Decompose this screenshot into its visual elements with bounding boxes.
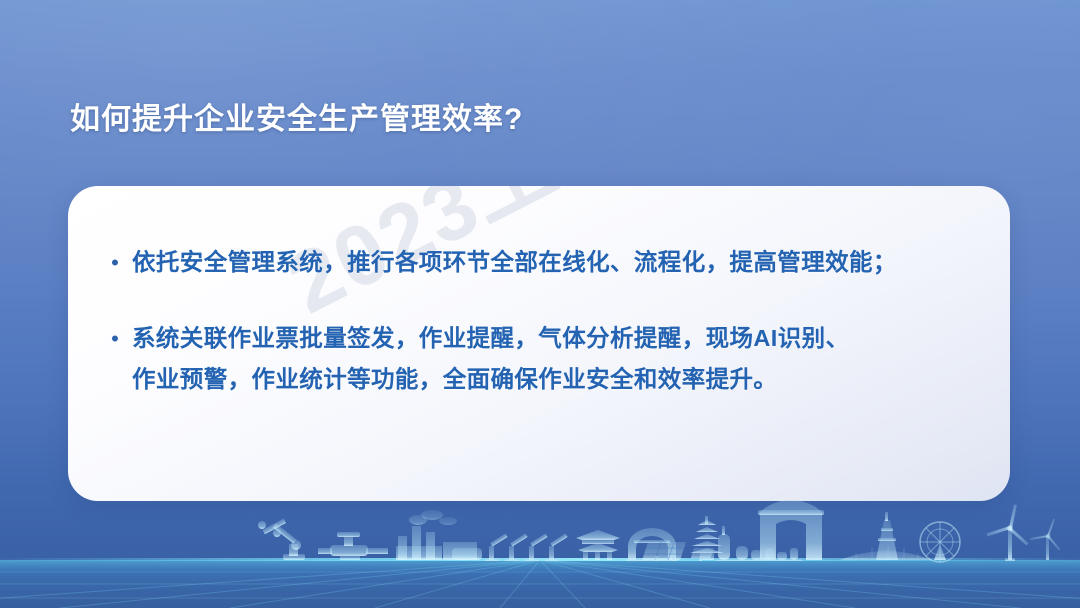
skyline-silhouettes: [258, 500, 1060, 562]
page-title: 如何提升企业安全生产管理效率?: [70, 94, 523, 138]
solar-panels-icon: [642, 542, 714, 561]
bullet-line: 依托安全管理系统，推行各项环节全部在线化、流程化，提高管理效能；: [132, 242, 980, 282]
bullet-text: 依托安全管理系统，推行各项环节全部在线化、流程化，提高管理效能；: [132, 242, 980, 282]
perspective-ground: [0, 558, 1080, 608]
wind-turbines-icon: [987, 504, 1061, 561]
radio-tower-icon: [876, 512, 898, 560]
bullet-text: 系统关联作业票批量签发，作业提醒，气体分析提醒，现场AI识别、 作业预警，作业统…: [132, 318, 980, 399]
bullet-line: 作业预警，作业统计等功能，全面确保作业安全和效率提升。: [132, 359, 980, 399]
list-item: • 系统关联作业票批量签发，作业提醒，气体分析提醒，现场AI识别、 作业预警，作…: [98, 318, 980, 399]
bullet-dot-icon: •: [98, 318, 132, 350]
pipeline-valve-icon: [318, 532, 388, 560]
robotic-arm-icon: [258, 519, 305, 560]
energy-facilities: [642, 526, 932, 561]
presentation-slide: 如何提升企业安全生产管理效率? 2023工业互联网大会 • 依托安全管理系统，推…: [0, 0, 1080, 608]
arch-bridge-icon: [626, 528, 678, 561]
content-card: 2023工业互联网大会 • 依托安全管理系统，推行各项环节全部在线化、流程化，提…: [68, 186, 1010, 501]
bullet-line: 系统关联作业票批量签发，作业提醒，气体分析提醒，现场AI识别、: [132, 318, 980, 358]
list-item: • 依托安全管理系统，推行各项环节全部在线化、流程化，提高管理效能；: [98, 242, 980, 282]
ferris-wheel-icon: [920, 522, 960, 562]
oil-derricks-icon: [485, 534, 568, 561]
industrial-city-skyline: [0, 498, 1080, 608]
storage-tanks-icon: [716, 526, 802, 561]
gate-of-the-orient-icon: [758, 500, 824, 560]
bridge-icon: [840, 546, 932, 560]
bullet-list: • 依托安全管理系统，推行各项环节全部在线化、流程化，提高管理效能； • 系统关…: [68, 186, 1010, 435]
pagoda-gate-icon: [576, 530, 620, 560]
bullet-dot-icon: •: [98, 242, 132, 274]
factory-icon: [396, 510, 482, 560]
pagoda-tower-icon: [690, 516, 724, 560]
